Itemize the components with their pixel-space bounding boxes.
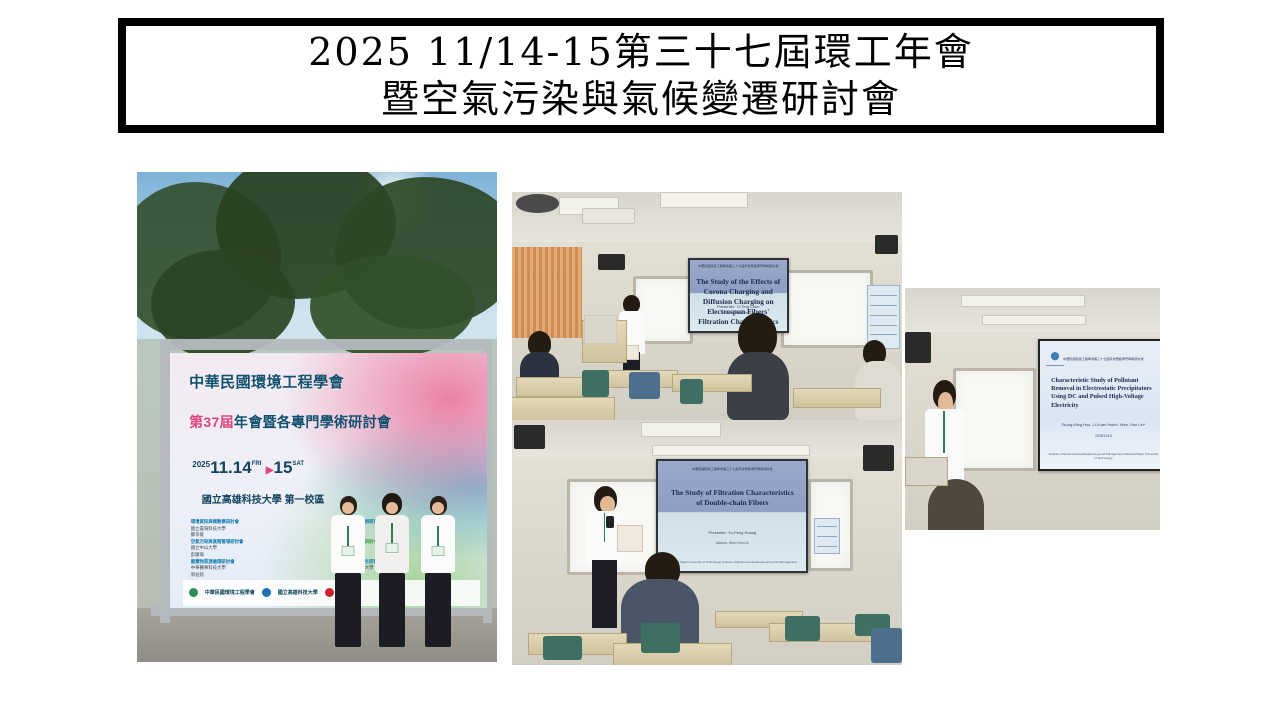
slide-organization: Institute of Environmental Engineering a… xyxy=(1047,452,1159,460)
lecture-right-photo: 中華民國環境工程學會第三十七屆年會暨各專門學術研討會 Characteristi… xyxy=(905,288,1160,530)
slide-header-zh: 中華民國環境工程學會第三十七屆年會暨各專門學術研討會 xyxy=(1047,357,1159,362)
lectern-monitor xyxy=(584,315,617,344)
presenter-script xyxy=(617,525,642,552)
slide-title-line-1: 2025 11/14-15第三十七屆環工年會 xyxy=(308,29,974,75)
student-person xyxy=(331,496,365,647)
slide-title-line-2: 暨空氣污染與氣候變遷研討會 xyxy=(381,76,901,122)
session-org: 國立中山大學 xyxy=(191,545,322,552)
ceiling-light xyxy=(982,315,1086,325)
ceiling-light xyxy=(660,192,748,208)
wall-speaker xyxy=(598,254,625,270)
university-logo-icon xyxy=(262,588,271,597)
classroom-chair xyxy=(680,379,703,404)
slide-title: Characteristic Study of Pollutant Remova… xyxy=(1051,377,1159,410)
slide-authors: Tsung-Ming Hsu, Li-Kuan Hsieh, Wen-Yinn … xyxy=(1047,422,1159,427)
name-badge xyxy=(342,546,355,556)
slide-header-zh: 中華民國環境工程學會第三十七屆年會暨各專門學術研討會 xyxy=(695,264,781,269)
banner-date-year: 2025 xyxy=(192,460,210,469)
banner-date-start: 11.14 xyxy=(210,458,252,477)
session-chair: 彭康瑜 xyxy=(191,552,322,559)
truss-frame xyxy=(160,339,169,623)
person-face xyxy=(386,502,398,514)
lecture-top-photo: 中華民國環境工程學會第三十七屆年會暨各專門學術研討會 The Study of … xyxy=(512,192,902,420)
banner-logo-label: 中華民國環境工程學會 xyxy=(205,589,255,596)
banner-venue: 國立高雄科技大學 第一校區 xyxy=(202,491,325,506)
classroom-chair xyxy=(641,623,680,652)
name-badge xyxy=(385,543,398,553)
wall-speaker xyxy=(514,425,545,450)
slide-date: 2025/11/15 xyxy=(1047,434,1159,438)
ceiling-light xyxy=(961,295,1085,307)
banner-event-title: 第37屆年會暨各專門學術研討會 xyxy=(189,412,391,432)
presenter-legs xyxy=(592,560,617,629)
wall-speaker xyxy=(875,235,898,253)
slide-presenter: Presenter: Yu-Peng Huang xyxy=(667,530,797,535)
slide-organization: National Taipei University of Technology… xyxy=(667,560,797,564)
classroom-chair xyxy=(582,370,609,397)
banner-org-title: 中華民國環境工程學會 xyxy=(189,371,344,392)
session-chair: 郭益銘 xyxy=(191,572,322,579)
whiteboard xyxy=(953,368,1036,471)
projection-screen: 中華民國環境工程學會第三十七屆年會暨各專門學術研討會 The Study of … xyxy=(656,459,808,573)
whiteboard xyxy=(781,270,873,349)
projector xyxy=(582,208,635,224)
ceiling-speaker xyxy=(516,194,559,212)
person-trousers xyxy=(335,573,361,647)
presenter-notes xyxy=(625,345,639,361)
banner-date-end: 15 xyxy=(274,458,293,477)
banner-date-separator: ▶ xyxy=(266,465,274,476)
student-person xyxy=(375,493,409,647)
teacher-desk xyxy=(905,457,948,486)
projection-screen: 中華民國環境工程學會第三十七屆年會暨各專門學術研討會 Characteristi… xyxy=(1038,339,1160,471)
slide-header-zh: 中華民國環境工程學會第三十七屆年會暨各專門學術研討會 xyxy=(667,467,797,472)
lanyard xyxy=(604,513,606,542)
presentation-slide: 中華民國環境工程學會第三十七屆年會暨各專門學術研討會 The Study of … xyxy=(658,461,806,571)
society-logo-icon xyxy=(189,588,198,597)
session-org: 中華醫事科技大學 xyxy=(191,565,322,572)
lecture-bottom-photo: 中華民國環境工程學會第三十七屆年會暨各專門學術研討會 The Study of … xyxy=(512,420,902,665)
slide-advisor: Advisor: Wen-Yinn Lin xyxy=(695,311,781,315)
banner-logo-label: 國立高雄科技大學 xyxy=(278,589,318,596)
classroom-chair xyxy=(629,372,660,399)
wall-speaker xyxy=(905,332,931,363)
projection-screen: 中華民國環境工程學會第三十七屆年會暨各專門學術研討會 The Study of … xyxy=(688,258,790,333)
name-badge xyxy=(432,546,445,556)
person-trousers xyxy=(425,573,451,647)
banner-session-column-left: 環境資訊與模數模研討會 國立臺灣科技大學 鄭幸雄 空氣污染與高階管理研討會 國立… xyxy=(191,519,322,578)
microphone xyxy=(606,516,615,528)
session-chair: 鄭幸雄 xyxy=(191,532,322,539)
person-trousers xyxy=(379,573,405,647)
slide-advisor: Advisor: Wen-Yinn Lin xyxy=(667,541,797,545)
banner-event-name: 年會暨各專門學術研討會 xyxy=(234,414,391,430)
lanyard xyxy=(437,526,439,548)
student-desk xyxy=(512,397,615,420)
conference-banner-photo: 中華民國環境工程學會 第37屆年會暨各專門學術研討會 202511.14FRI … xyxy=(137,172,497,662)
presentation-slide: 中華民國環境工程學會第三十七屆年會暨各專門學術研討會 Characteristi… xyxy=(1040,341,1160,469)
banner-date: 202511.14FRI ▶15SAT xyxy=(192,458,304,478)
lanyard xyxy=(391,523,393,545)
session-name: 環境資訊與模數模研討會 xyxy=(191,519,322,526)
classroom-chair xyxy=(871,628,902,662)
audience-head xyxy=(928,479,984,530)
wall-poster xyxy=(814,518,839,554)
slide-title: The Study of Filtration Characteristics … xyxy=(667,488,797,508)
lanyard xyxy=(943,411,945,452)
classroom-chair xyxy=(785,616,820,641)
student-desk xyxy=(793,388,881,408)
ceiling-light xyxy=(652,445,810,457)
slide-presenter: Presenter: Yi-Ting Chen xyxy=(695,304,781,309)
truss-frame xyxy=(160,339,491,350)
banner-event-ordinal: 第37屆 xyxy=(189,414,234,430)
banner-date-end-day: SAT xyxy=(292,461,304,467)
lanyard xyxy=(347,526,349,548)
wall-speaker xyxy=(863,445,894,472)
classroom-chair xyxy=(543,636,582,661)
student-person xyxy=(421,496,455,647)
banner-date-start-day: FRI xyxy=(252,461,262,467)
ceiling-light xyxy=(641,422,721,436)
session-org: 國立臺灣科技大學 xyxy=(191,526,322,533)
slide-title-box: 2025 11/14-15第三十七屆環工年會 暨空氣污染與氣候變遷研討會 xyxy=(118,18,1164,133)
window-blinds xyxy=(512,247,582,338)
